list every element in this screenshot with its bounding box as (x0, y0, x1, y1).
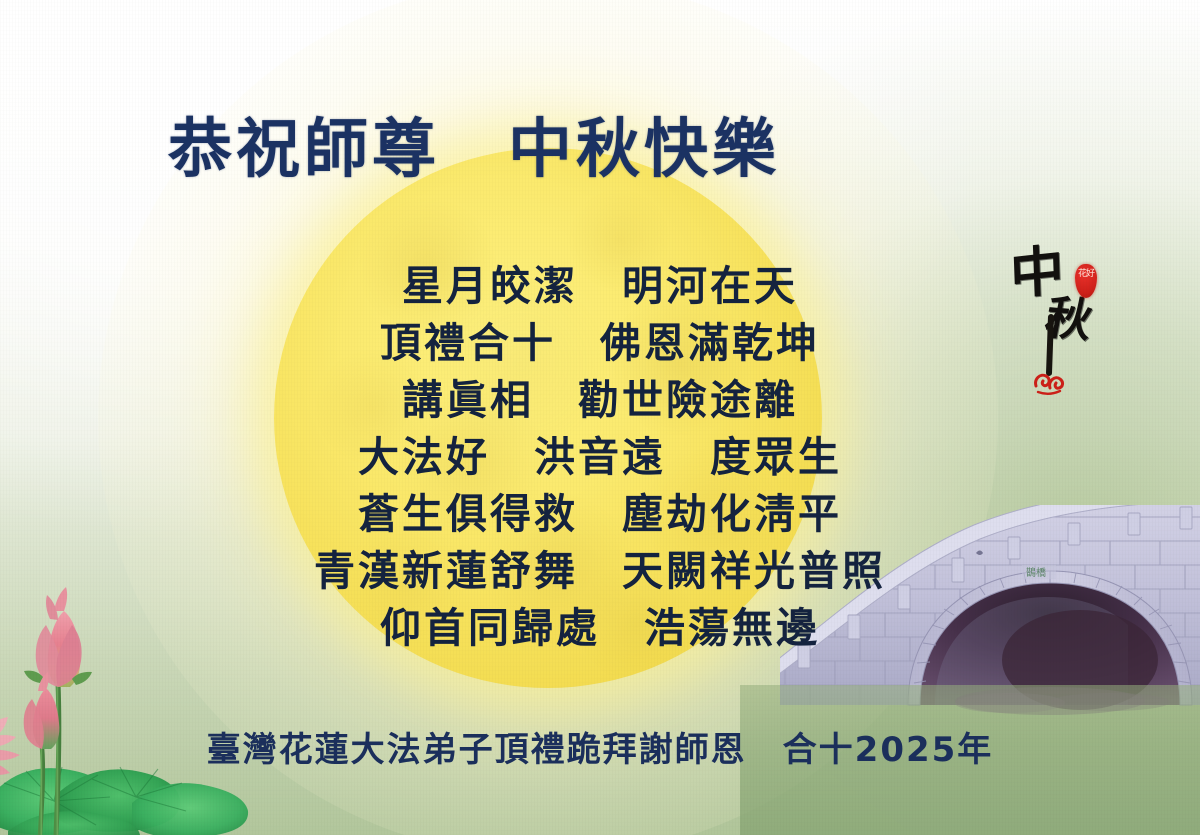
mid-autumn-greeting-card: 鵲橋 (0, 0, 1200, 835)
paper-texture-overlay (0, 0, 1200, 835)
